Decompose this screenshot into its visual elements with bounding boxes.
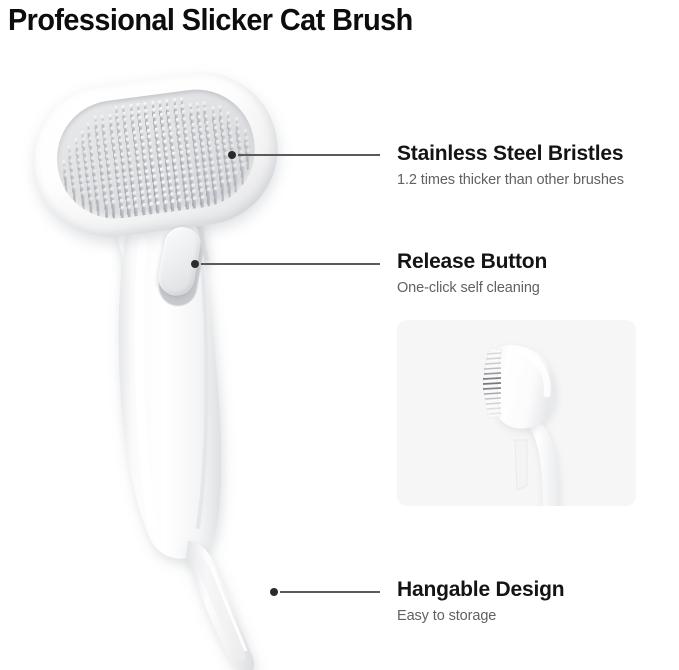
bristle-pin xyxy=(82,193,84,213)
callout-line-hangable-design xyxy=(280,591,380,593)
bristle-pin xyxy=(241,165,243,185)
callout-text-hangable-design: Hangable Design Easy to storage xyxy=(397,578,564,624)
bristle-pin xyxy=(221,181,223,202)
bristle-pin xyxy=(90,198,92,219)
callout-subtitle-hangable-design: Easy to storage xyxy=(397,608,564,624)
bristle-pin xyxy=(235,173,237,193)
bristle-pin xyxy=(97,198,99,219)
callout-subtitle-bristles: 1.2 times thicker than other brushes xyxy=(397,172,624,188)
bristle-pin xyxy=(228,180,230,201)
callout-title-hangable-design: Hangable Design xyxy=(397,578,564,602)
callout-dot-bristles xyxy=(228,151,236,159)
inset-tab xyxy=(515,440,527,490)
page-title: Professional Slicker Cat Brush xyxy=(8,2,413,38)
hanging-loop-inner xyxy=(194,555,245,662)
callout-dot-hangable-design xyxy=(270,588,278,596)
callout-text-bristles: Stainless Steel Bristles 1.2 times thick… xyxy=(397,142,624,188)
callout-title-release-button: Release Button xyxy=(397,250,547,274)
bristle-pin xyxy=(65,175,67,194)
product-illustration xyxy=(0,55,400,670)
callout-text-release-button: Release Button One-click self cleaning xyxy=(397,250,547,296)
callout-dot-release-button xyxy=(191,260,199,268)
callout-title-bristles: Stainless Steel Bristles xyxy=(397,142,624,166)
bristle-pin xyxy=(74,187,76,207)
inset-product-graphic xyxy=(397,320,636,506)
callout-line-bristles xyxy=(238,154,380,156)
callout-subtitle-release-button: One-click self cleaning xyxy=(397,280,547,296)
inset-handle xyxy=(525,416,560,506)
callout-line-release-button xyxy=(201,263,380,265)
inset-panel-self-cleaning xyxy=(397,320,636,506)
